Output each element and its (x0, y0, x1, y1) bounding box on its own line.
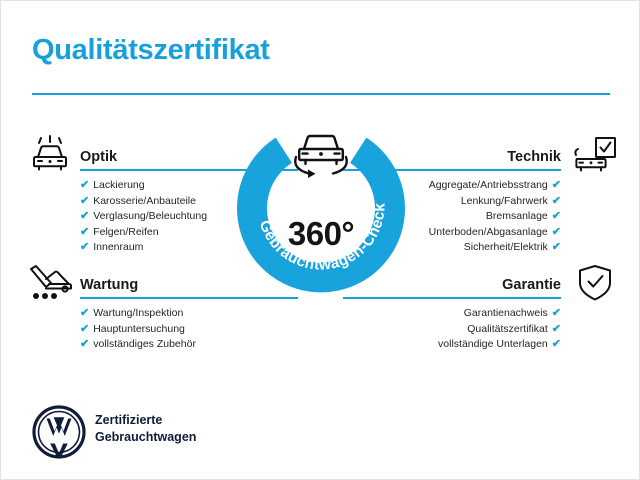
footer-brand-text: Zertifizierte Gebrauchtwagen (95, 412, 196, 446)
section-title: Garantie (502, 277, 561, 293)
car-checkbox-icon (568, 135, 614, 175)
list-item: ✔vollständiges Zubehör (80, 337, 298, 353)
shield-check-icon (573, 263, 619, 303)
check-icon: ✔ (80, 179, 89, 191)
section-divider (80, 297, 298, 299)
title-divider (32, 93, 610, 95)
check-icon: ✔ (80, 323, 89, 335)
list-item: Qualitätszertifikat✔ (343, 322, 561, 338)
section-title: Optik (80, 149, 117, 165)
check-icon: ✔ (552, 307, 561, 319)
list-item-label: Hauptuntersuchung (93, 323, 185, 335)
list-item-label: Innenraum (93, 241, 143, 253)
check-icon: ✔ (552, 226, 561, 238)
check-icon: ✔ (552, 241, 561, 253)
footer-line-2: Gebrauchtwagen (95, 429, 196, 446)
checklist-garantie: Garantienachweis✔ Qualitätszertifikat✔ v… (343, 306, 561, 353)
list-item: vollständige Unterlagen✔ (343, 337, 561, 353)
list-item-label: Sicherheit/Elektrik (464, 241, 548, 253)
footer-line-1: Zertifizierte (95, 412, 196, 429)
check-icon: ✔ (80, 226, 89, 238)
check-icon: ✔ (80, 241, 89, 253)
list-item-label: Wartung/Inspektion (93, 307, 183, 319)
list-item-label: vollständige Unterlagen (438, 338, 548, 350)
list-item-label: Lenkung/Fahrwerk (461, 195, 548, 207)
list-item-label: Qualitätszertifikat (467, 323, 548, 335)
list-item-label: Garantienachweis (464, 307, 548, 319)
section-title: Wartung (80, 277, 138, 293)
check-icon: ✔ (552, 195, 561, 207)
section-divider (343, 297, 561, 299)
list-item-label: Lackierung (93, 179, 144, 191)
badge-360-gebrauchtwagen-check: Gebrauchtwagen-Check (234, 119, 408, 293)
check-icon: ✔ (80, 195, 89, 207)
vw-logo-icon (32, 405, 86, 459)
check-icon: ✔ (552, 338, 561, 350)
check-icon: ✔ (552, 323, 561, 335)
list-item: Garantienachweis✔ (343, 306, 561, 322)
page-title: Qualitätszertifikat (32, 34, 270, 67)
check-icon: ✔ (552, 210, 561, 222)
check-icon: ✔ (80, 307, 89, 319)
list-item-label: Felgen/Reifen (93, 226, 158, 238)
list-item-label: Bremsanlage (486, 210, 548, 222)
checklist-wartung: ✔Wartung/Inspektion ✔Hauptuntersuchung ✔… (80, 306, 298, 353)
check-icon: ✔ (80, 338, 89, 350)
wrench-car-icon (25, 263, 71, 303)
list-item-label: Karosserie/Anbauteile (93, 195, 196, 207)
list-item: ✔Hauptuntersuchung (80, 322, 298, 338)
check-icon: ✔ (552, 179, 561, 191)
badge-center-label: 360° (234, 215, 408, 253)
check-icon: ✔ (80, 210, 89, 222)
list-item: ✔Wartung/Inspektion (80, 306, 298, 322)
section-title: Technik (507, 149, 561, 165)
quality-certificate-page: Qualitätszertifikat (0, 0, 640, 480)
list-item-label: Verglasung/Beleuchtung (93, 210, 207, 222)
car-inspection-light-icon (27, 135, 73, 175)
list-item-label: vollständiges Zubehör (93, 338, 196, 350)
list-item-label: Unterboden/Abgasanlage (429, 226, 548, 238)
list-item-label: Aggregate/Antriebsstrang (429, 179, 548, 191)
